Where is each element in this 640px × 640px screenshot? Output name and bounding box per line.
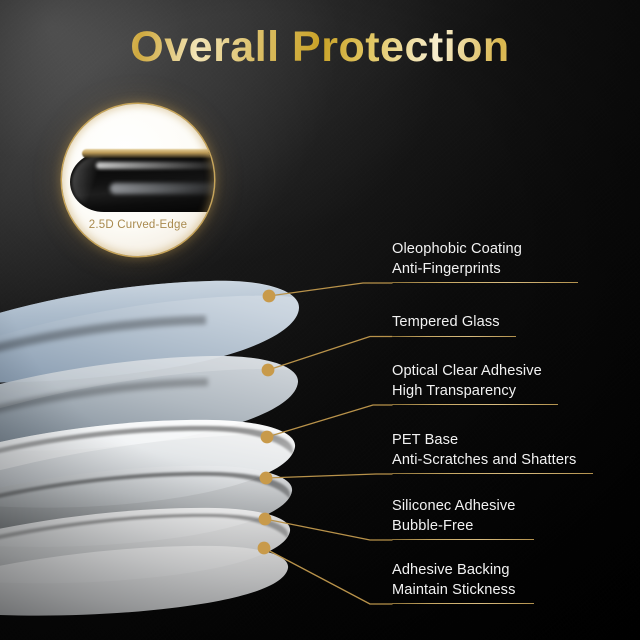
callout-oleophobic: Oleophobic CoatingAnti-Fingerprints bbox=[392, 240, 578, 283]
callout-pet-base: PET BaseAnti-Scratches and Shatters bbox=[392, 431, 593, 474]
callout-line-2: Bubble-Free bbox=[392, 517, 534, 537]
callout-line-2: High Transparency bbox=[392, 382, 558, 402]
page-title: Overall Protection bbox=[0, 25, 640, 70]
callout-line-1: Oleophobic Coating bbox=[392, 240, 578, 260]
callout-underline bbox=[392, 282, 578, 283]
callout-line-1: Tempered Glass bbox=[392, 313, 516, 333]
callout-adhesive-backing: Adhesive BackingMaintain Stickness bbox=[392, 561, 534, 604]
callout-line-1: Adhesive Backing bbox=[392, 561, 534, 581]
callout-optical-clear-adhesive: Optical Clear AdhesiveHigh Transparency bbox=[392, 362, 558, 405]
callout-line-1: PET Base bbox=[392, 431, 593, 451]
callout-line-2: Anti-Scratches and Shatters bbox=[392, 451, 593, 471]
product-infographic: Overall Protection 2.5D Curved-Edge Oleo… bbox=[0, 0, 640, 640]
curved-edge-inset: 2.5D Curved-Edge bbox=[62, 104, 214, 256]
callout-underline bbox=[392, 473, 593, 474]
callout-line-1: Siliconec Adhesive bbox=[392, 497, 534, 517]
callout-underline bbox=[392, 603, 534, 604]
callout-line-1: Optical Clear Adhesive bbox=[392, 362, 558, 382]
callout-tempered-glass: Tempered Glass bbox=[392, 313, 516, 337]
callout-underline bbox=[392, 336, 516, 337]
callout-siliconec-adhesive: Siliconec AdhesiveBubble-Free bbox=[392, 497, 534, 540]
callout-underline bbox=[392, 539, 534, 540]
background-gradient bbox=[0, 0, 640, 640]
callout-line-2: Anti-Fingerprints bbox=[392, 260, 578, 280]
curved-glass-edge-illustration bbox=[70, 146, 214, 218]
inset-caption: 2.5D Curved-Edge bbox=[62, 219, 214, 231]
callout-underline bbox=[392, 404, 558, 405]
callout-line-2: Maintain Stickness bbox=[392, 581, 534, 601]
